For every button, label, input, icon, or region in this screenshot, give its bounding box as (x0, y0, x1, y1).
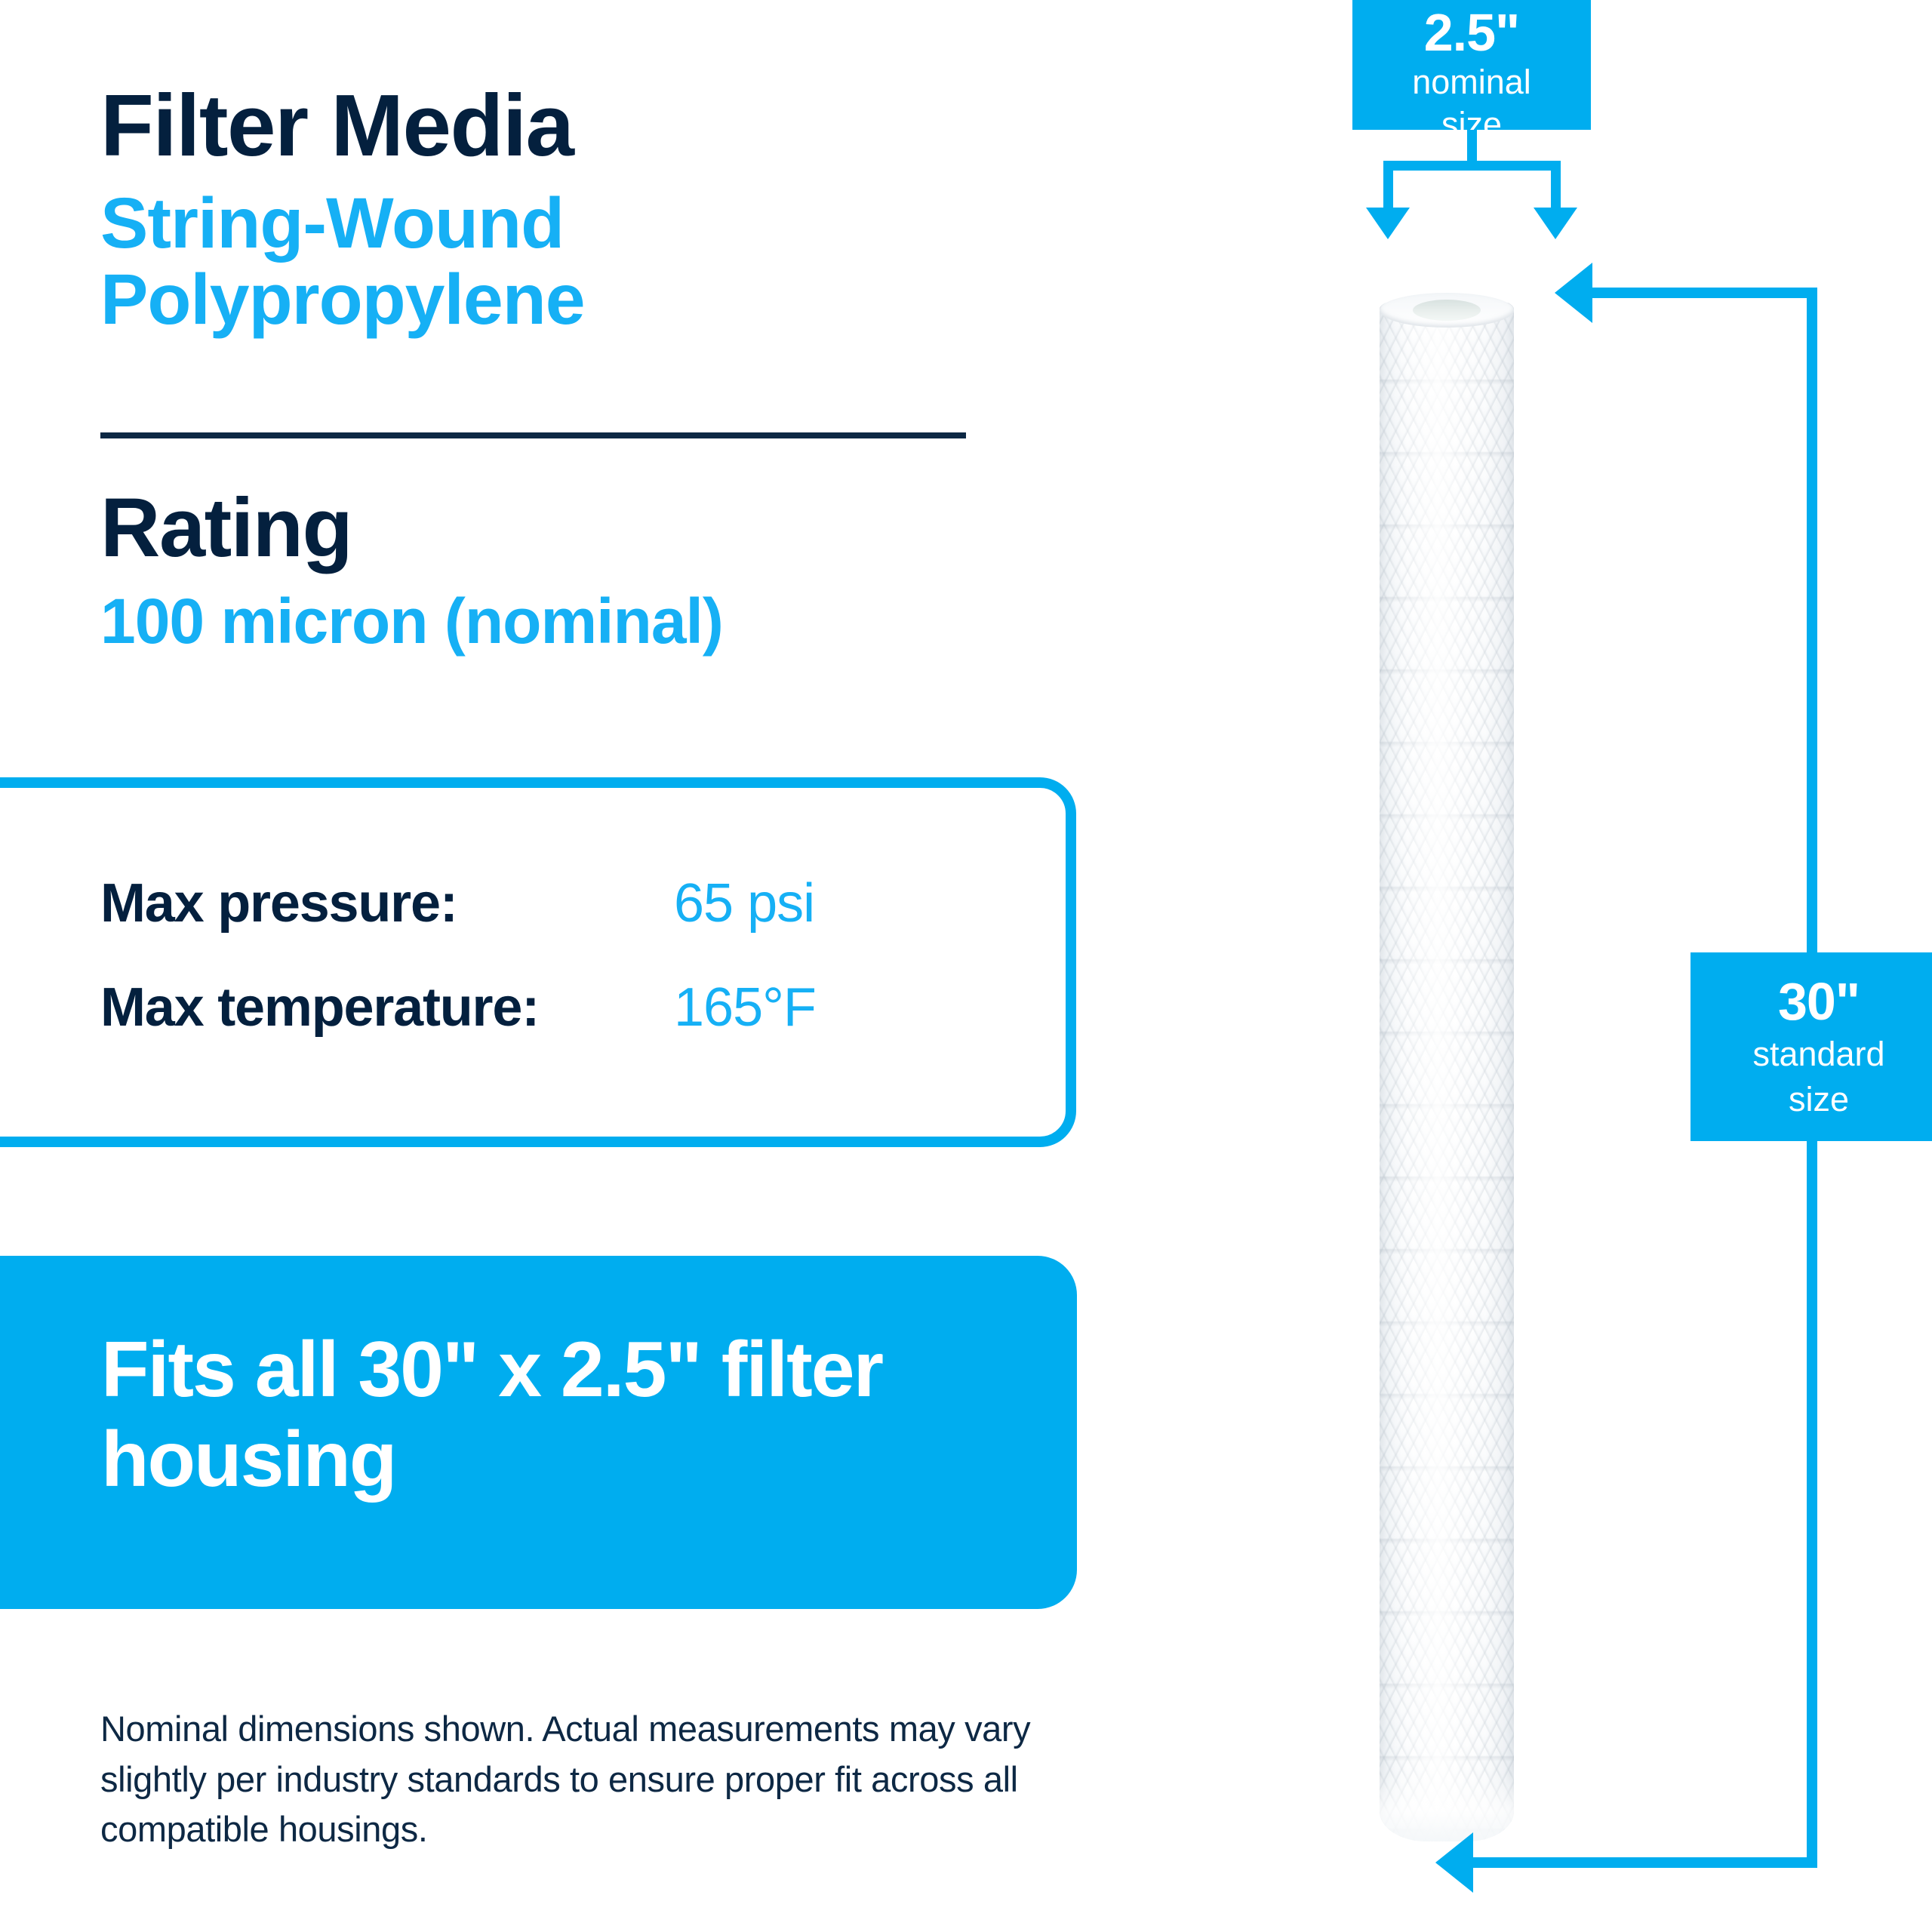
operating-limits-box: Max pressure: 65 psi Max temperature: 16… (0, 777, 1076, 1147)
product-illustration-area: 2.5" nominal size 30" standard size (1207, 0, 1932, 1932)
compatibility-banner: Fits all 30" x 2.5" filter housing (0, 1256, 1077, 1609)
string-winding-texture-right (1380, 302, 1514, 1841)
width-arrow-right-icon (1534, 208, 1577, 239)
filter-media-heading: Filter Media (100, 82, 727, 169)
height-measurement: 30" (1690, 975, 1932, 1028)
max-pressure-label: Max pressure: (100, 872, 674, 934)
disclaimer-text: Nominal dimensions shown. Actual measure… (100, 1704, 1081, 1855)
rating-value: 100 micron (nominal) (100, 588, 723, 655)
table-row: Max temperature: 165°F (100, 977, 983, 1038)
string-winding-texture-left (1380, 302, 1514, 1841)
callout-badge-width: 2.5" nominal size (1352, 0, 1591, 130)
height-qualifier-line2: size (1690, 1081, 1932, 1118)
filter-cartridge-image (1380, 302, 1514, 1841)
width-bracket-left-drop (1383, 161, 1393, 211)
height-leader-top (1591, 288, 1817, 298)
infographic-canvas: Filter Media String-Wound Polypropylene … (0, 0, 1932, 1932)
string-winding-bands (1380, 302, 1514, 1841)
width-bracket-right-drop (1551, 161, 1561, 211)
height-leader-bottom (1473, 1857, 1817, 1868)
height-arrow-top-icon (1555, 263, 1592, 323)
width-measurement: 2.5" (1352, 6, 1591, 59)
max-temperature-value: 165°F (674, 977, 816, 1038)
filter-media-value: String-Wound Polypropylene (100, 186, 727, 337)
operating-limits-table: Max pressure: 65 psi Max temperature: 16… (100, 872, 983, 1038)
compatibility-banner-text: Fits all 30" x 2.5" filter housing (101, 1325, 992, 1504)
spec-group-filter-media: Filter Media String-Wound Polypropylene (100, 82, 727, 337)
rating-heading: Rating (100, 487, 723, 570)
width-qualifier-line1: nominal (1352, 63, 1591, 101)
spec-group-rating: Rating 100 micron (nominal) (100, 487, 723, 655)
height-arrow-bottom-icon (1435, 1832, 1473, 1893)
max-temperature-label: Max temperature: (100, 977, 674, 1038)
max-pressure-value: 65 psi (674, 872, 814, 934)
table-row: Max pressure: 65 psi (100, 872, 983, 934)
section-divider (100, 432, 966, 438)
width-arrow-left-icon (1366, 208, 1410, 239)
height-qualifier-line1: standard (1690, 1035, 1932, 1073)
cartridge-bottom-cap (1380, 1774, 1514, 1841)
callout-badge-height: 30" standard size (1690, 952, 1932, 1141)
cartridge-highlight (1380, 302, 1514, 1841)
width-bracket-bar (1383, 161, 1561, 171)
